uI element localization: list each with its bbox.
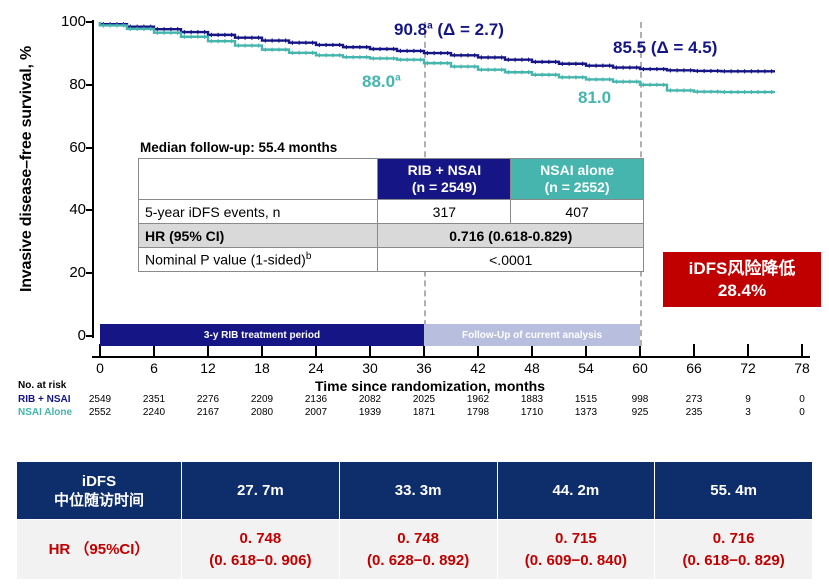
at-risk-value: 2276: [188, 394, 228, 405]
y-tick-label-60: 60: [44, 139, 86, 156]
hr-confidence-interval: (0. 628−0. 892): [341, 550, 496, 572]
hr-table-header-row: iDFS 中位随访时间 27. 7m33. 3m44. 2m55. 4m: [17, 462, 813, 520]
stats-header-row: RIB + NSAI (n = 2549) NSAI alone (n = 25…: [139, 159, 644, 200]
stats-table-wrap: Median follow-up: 55.4 months RIB + NSAI…: [138, 140, 644, 272]
y-tick-label-80: 80: [44, 76, 86, 93]
annotation-value: 90.8: [394, 20, 427, 39]
y-axis-title: Invasive disease–free survival, %: [18, 4, 36, 334]
stats-header-rib-line2: (n = 2549): [382, 179, 506, 196]
at-risk-row: RIB + NSAI254923512276220921362082202519…: [18, 394, 829, 407]
x-tick-label-0: 0: [80, 360, 120, 376]
x-tick-label-48: 48: [512, 360, 552, 376]
at-risk-value: 2167: [188, 407, 228, 418]
x-tick-mark: [747, 344, 749, 356]
at-risk-value: 235: [674, 407, 714, 418]
at-risk-value: 1373: [566, 407, 606, 418]
x-tick-label-12: 12: [188, 360, 228, 376]
at-risk-value: 1798: [458, 407, 498, 418]
stats-header-rib: RIB + NSAI (n = 2549): [378, 159, 511, 200]
at-risk-value: 2549: [80, 394, 120, 405]
stats-pvalue-label-text: Nominal P value (1-sided): [145, 252, 306, 268]
period-bar-follow-up-of-current-analysis: Follow-Up of current analysis: [424, 324, 640, 346]
hr-timepoint-header-3: 55. 4m: [655, 462, 813, 520]
x-tick-label-72: 72: [728, 360, 768, 376]
stats-row-label-events: 5-year iDFS events, n: [139, 200, 378, 224]
x-tick-label-6: 6: [134, 360, 174, 376]
hr-header-line1: iDFS: [18, 472, 180, 491]
y-tick-mark: [86, 272, 93, 274]
at-risk-value: 2351: [134, 394, 174, 405]
x-axis-title: Time since randomization, months: [300, 378, 560, 394]
table-row: Nominal P value (1-sided)b <.0001: [139, 248, 644, 272]
at-risk-value: 2082: [350, 394, 390, 405]
y-tick-label-100: 100: [44, 13, 86, 30]
hr-summary-table: iDFS 中位随访时间 27. 7m33. 3m44. 2m55. 4m HR …: [16, 461, 813, 580]
x-tick-label-60: 60: [620, 360, 660, 376]
x-tick-label-66: 66: [674, 360, 714, 376]
period-bar-label: 3-y RIB treatment period: [204, 330, 320, 341]
y-tick-label-0: 0: [44, 327, 86, 344]
y-tick-mark: [86, 147, 93, 149]
x-tick-label-36: 36: [404, 360, 444, 376]
x-tick-label-30: 30: [350, 360, 390, 376]
at-risk-row: NSAI Alone255222402167208020071939187117…: [18, 407, 829, 420]
table-row: 5-year iDFS events, n 317 407: [139, 200, 644, 224]
stats-row-label-hr: HR (95% CI): [139, 224, 378, 248]
curve-annotation-85-5: 85.5 (Δ = 4.5): [613, 38, 717, 58]
annotation-value: 88.0: [362, 72, 395, 91]
at-risk-value: 0: [782, 394, 822, 405]
stats-row-label-pvalue: Nominal P value (1-sided)b: [139, 248, 378, 272]
hr-confidence-interval: (0. 618−0. 829): [656, 550, 811, 572]
curve-annotation-90-8: 90.8a (Δ = 2.7): [394, 20, 504, 40]
at-risk-value: 2209: [242, 394, 282, 405]
stats-events-rib: 317: [378, 200, 511, 224]
at-risk-value: 998: [620, 394, 660, 405]
idfs-risk-reduction-callout: iDFS风险降低 28.4%: [663, 252, 821, 307]
stats-header-nsai: NSAI alone (n = 2552): [511, 159, 644, 200]
curve-annotation-88-0: 88.0a: [362, 72, 401, 92]
hr-point-estimate: 0. 716: [656, 528, 811, 550]
at-risk-value: 2136: [296, 394, 336, 405]
period-bar--y-rib-treatment-period: 3-y RIB treatment period: [100, 324, 424, 346]
at-risk-value: 0: [782, 407, 822, 418]
hr-confidence-interval: (0. 618−0. 906): [183, 550, 338, 572]
stats-header-rib-line1: RIB + NSAI: [382, 162, 506, 179]
x-tick-label-54: 54: [566, 360, 606, 376]
stats-events-nsai: 407: [511, 200, 644, 224]
hr-value-cell-0: 0. 748(0. 618−0. 906): [182, 520, 340, 580]
period-bar-label: Follow-Up of current analysis: [462, 330, 602, 341]
at-risk-value: 3: [728, 407, 768, 418]
y-tick-mark: [86, 335, 93, 337]
stats-table: RIB + NSAI (n = 2549) NSAI alone (n = 25…: [138, 158, 644, 272]
x-tick-mark: [693, 344, 695, 356]
hr-table-value-row: HR （95%CI） 0. 748(0. 618−0. 906)0. 748(0…: [17, 520, 813, 580]
at-risk-value: 1515: [566, 394, 606, 405]
at-risk-row-label: NSAI Alone: [18, 407, 72, 418]
annotation-delta: (Δ = 4.5): [646, 38, 717, 57]
hr-timepoint-header-0: 27. 7m: [182, 462, 340, 520]
x-tick-label-42: 42: [458, 360, 498, 376]
y-tick-label-40: 40: [44, 201, 86, 218]
annotation-footnote-marker: a: [395, 72, 401, 83]
at-risk-value: 1962: [458, 394, 498, 405]
at-risk-row-label: RIB + NSAI: [18, 394, 71, 405]
risk-callout-line1: iDFS风险降低: [689, 258, 796, 280]
stats-header-blank: [139, 159, 378, 200]
annotation-delta: (Δ = 2.7): [433, 20, 504, 39]
stats-hr-value: 0.716 (0.618-0.829): [378, 224, 644, 248]
table-row: HR (95% CI) 0.716 (0.618-0.829): [139, 224, 644, 248]
at-risk-value: 2240: [134, 407, 174, 418]
annotation-value: 81.0: [578, 88, 611, 107]
at-risk-value: 2080: [242, 407, 282, 418]
y-axis-line: [92, 20, 94, 338]
stats-header-nsai-line2: (n = 2552): [515, 179, 639, 196]
y-tick-mark: [86, 21, 93, 23]
hr-row-label: HR （95%CI）: [17, 520, 182, 580]
hr-point-estimate: 0. 748: [183, 528, 338, 550]
y-tick-label-20: 20: [44, 264, 86, 281]
at-risk-value: 1871: [404, 407, 444, 418]
hr-confidence-interval: (0. 609−0. 840): [499, 550, 654, 572]
annotation-value: 85.5: [613, 38, 646, 57]
x-tick-label-24: 24: [296, 360, 336, 376]
y-tick-mark: [86, 209, 93, 211]
at-risk-value: 925: [620, 407, 660, 418]
stats-header-nsai-line1: NSAI alone: [515, 162, 639, 179]
hr-point-estimate: 0. 748: [341, 528, 496, 550]
hr-value-cell-1: 0. 748(0. 628−0. 892): [339, 520, 497, 580]
hr-timepoint-header-1: 33. 3m: [339, 462, 497, 520]
y-tick-mark: [86, 84, 93, 86]
x-tick-mark: [801, 344, 803, 356]
x-axis-line: [92, 356, 810, 358]
hr-table-header-label: iDFS 中位随访时间: [17, 462, 182, 520]
at-risk-value: 2552: [80, 407, 120, 418]
stats-pvalue-footnote-marker: b: [306, 251, 312, 262]
no-at-risk-title: No. at risk: [18, 380, 66, 391]
hr-value-cell-3: 0. 716(0. 618−0. 829): [655, 520, 813, 580]
x-tick-label-18: 18: [242, 360, 282, 376]
hr-value-cell-2: 0. 715(0. 609−0. 840): [497, 520, 655, 580]
hr-header-line2: 中位随访时间: [18, 491, 180, 510]
at-risk-value: 9: [728, 394, 768, 405]
risk-callout-line2: 28.4%: [718, 280, 766, 302]
at-risk-value: 2025: [404, 394, 444, 405]
slide-root: Invasive disease–free survival, % 020406…: [0, 0, 829, 584]
at-risk-value: 1883: [512, 394, 552, 405]
at-risk-value: 1939: [350, 407, 390, 418]
hr-timepoint-header-2: 44. 2m: [497, 462, 655, 520]
hr-point-estimate: 0. 715: [499, 528, 654, 550]
at-risk-value: 1710: [512, 407, 552, 418]
curve-annotation-81-0: 81.0: [578, 88, 611, 108]
at-risk-value: 2007: [296, 407, 336, 418]
x-tick-label-78: 78: [782, 360, 822, 376]
stats-pvalue-value: <.0001: [378, 248, 644, 272]
km-chart-panel: Invasive disease–free survival, % 020406…: [0, 0, 829, 448]
median-followup-label: Median follow-up: 55.4 months: [138, 140, 644, 155]
at-risk-value: 273: [674, 394, 714, 405]
